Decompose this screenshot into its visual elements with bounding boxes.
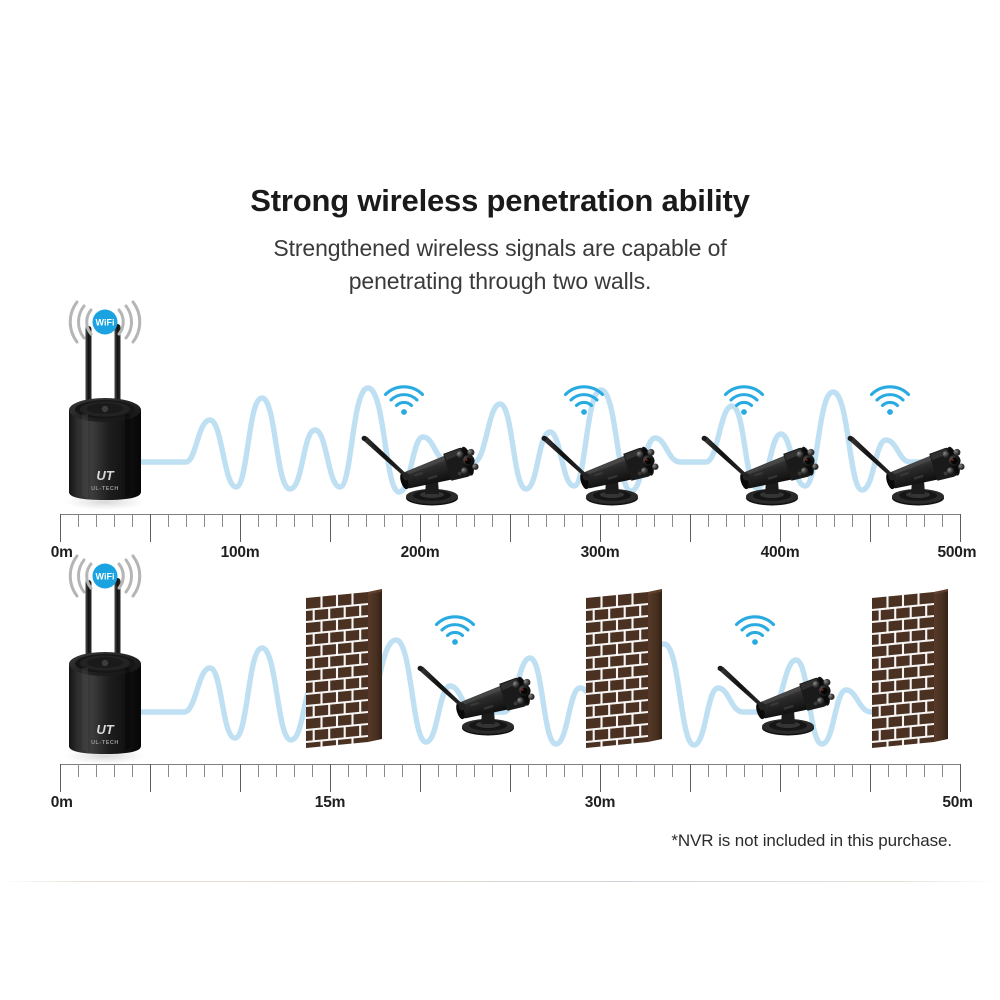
ruler-tick-minor [906, 764, 907, 777]
camera-row1-1 [361, 387, 481, 507]
ruler-label: 15m [315, 794, 345, 812]
ruler-tick-minor [456, 514, 457, 527]
ruler-tick-minor [276, 514, 277, 527]
ruler-tick-major [780, 764, 781, 792]
ruler-tick-minor [78, 764, 79, 777]
ruler-tick-minor [132, 514, 133, 527]
infographic-canvas: Strong wireless penetration ability Stre… [0, 0, 1000, 1000]
ruler-tick-minor [672, 764, 673, 777]
ruler-label: 50m [942, 794, 972, 812]
ruler-tick-minor [798, 514, 799, 527]
ruler-tick-minor [384, 514, 385, 527]
ruler-label: 200m [401, 544, 440, 562]
ruler-tick-minor [294, 514, 295, 527]
ruler-tick-minor [258, 764, 259, 777]
ruler-tick-minor [618, 514, 619, 527]
ruler-tick-major [690, 514, 691, 542]
ruler-tick-minor [672, 514, 673, 527]
wifi-badge-text-row2: WiFi [96, 572, 115, 582]
ruler-tick-minor [816, 764, 817, 777]
ruler-tick-minor [888, 514, 889, 527]
ruler-tick-major [600, 764, 601, 792]
ruler-tick-minor [114, 764, 115, 777]
ruler-tick-minor [492, 764, 493, 777]
ruler-tick-minor [528, 514, 529, 527]
ruler-tick-minor [546, 514, 547, 527]
ruler-tick-minor [852, 764, 853, 777]
ruler-tick-minor [312, 514, 313, 527]
nvr-device-row2 [61, 578, 149, 765]
ruler-tick-minor [402, 764, 403, 777]
ruler-tick-minor [852, 514, 853, 527]
ruler-tick-minor [132, 764, 133, 777]
ruler-tick-minor [114, 514, 115, 527]
ruler-tick-minor [654, 514, 655, 527]
ruler-tick-major [60, 764, 61, 792]
ruler-tick-minor [78, 514, 79, 527]
ruler-tick-major [780, 514, 781, 542]
nvr-logo-row2: UT UL-TECH [91, 722, 119, 746]
ruler-tick-minor [834, 764, 835, 777]
ruler-tick-major [150, 764, 151, 792]
ruler-tick-minor [744, 514, 745, 527]
ruler-tick-minor [582, 514, 583, 527]
brick-wall-2 [586, 589, 662, 748]
ruler-tick-minor [708, 514, 709, 527]
ruler-label: 30m [585, 794, 615, 812]
ruler-tick-minor [546, 764, 547, 777]
ruler-tick-minor [582, 764, 583, 777]
ruler-tick-minor [168, 514, 169, 527]
brick-wall-1 [306, 589, 382, 748]
subtitle-line-2: penetrating through two walls. [0, 268, 1000, 295]
brick-wall-3 [872, 589, 948, 748]
ruler-label: 0m [51, 794, 73, 812]
ruler-tick-minor [276, 764, 277, 777]
ruler-tick-minor [258, 514, 259, 527]
ruler-tick-minor [762, 514, 763, 527]
ruler-tick-minor [924, 514, 925, 527]
nvr-logo-row1: UT UL-TECH [91, 468, 119, 492]
ruler-label: 100m [221, 544, 260, 562]
ruler-tick-minor [798, 764, 799, 777]
ruler-tick-minor [204, 764, 205, 777]
ruler-tick-major [690, 764, 691, 792]
ruler-tick-major [240, 514, 241, 542]
camera-row1-4 [847, 387, 967, 507]
ruler-tick-minor [636, 764, 637, 777]
ruler-tick-minor [204, 514, 205, 527]
bottom-divider [0, 881, 1000, 882]
page-title: Strong wireless penetration ability [0, 183, 1000, 219]
ruler-tick-minor [726, 514, 727, 527]
ruler-tick-minor [474, 514, 475, 527]
svg-text:UL-TECH: UL-TECH [91, 486, 119, 492]
ruler-tick-minor [96, 514, 97, 527]
ruler-tick-minor [474, 764, 475, 777]
row1-signal-wave [140, 388, 938, 492]
wifi-badge-row2: WiFi [70, 556, 140, 596]
ruler-tick-minor [564, 514, 565, 527]
camera-row2-2 [717, 617, 837, 737]
svg-text:UL-TECH: UL-TECH [91, 740, 119, 746]
ruler-tick-major [960, 514, 961, 542]
wifi-badge-row1: WiFi [70, 302, 140, 342]
ruler-tick-minor [888, 764, 889, 777]
ruler-tick-minor [492, 514, 493, 527]
ruler-label: 500m [937, 544, 976, 562]
footnote-text: *NVR is not included in this purchase. [671, 831, 952, 851]
ruler-tick-minor [708, 764, 709, 777]
nvr-device-row1 [61, 324, 149, 511]
ruler-tick-major [150, 514, 151, 542]
ruler-tick-minor [636, 514, 637, 527]
svg-text:UT: UT [96, 722, 114, 737]
ruler-tick-minor [384, 764, 385, 777]
ruler-tick-minor [528, 764, 529, 777]
row2-signal-wave [140, 640, 898, 745]
camera-row2-1 [417, 617, 537, 737]
ruler-tick-major [240, 764, 241, 792]
ruler-tick-major [420, 514, 421, 542]
ruler-tick-major [510, 764, 511, 792]
ruler-row1: 0m100m200m300m400m500m [60, 514, 960, 560]
ruler-tick-major [510, 514, 511, 542]
ruler-tick-minor [744, 764, 745, 777]
svg-text:UT: UT [96, 468, 114, 483]
ruler-tick-minor [222, 514, 223, 527]
ruler-tick-minor [186, 764, 187, 777]
ruler-label: 0m [51, 544, 73, 562]
ruler-tick-minor [438, 764, 439, 777]
ruler-tick-minor [168, 764, 169, 777]
wifi-badge-text-row1: WiFi [96, 318, 115, 328]
ruler-tick-major [870, 764, 871, 792]
ruler-tick-major [330, 764, 331, 792]
ruler-label: 300m [581, 544, 620, 562]
ruler-tick-minor [762, 764, 763, 777]
ruler-tick-minor [726, 764, 727, 777]
ruler-tick-minor [924, 764, 925, 777]
ruler-tick-minor [366, 764, 367, 777]
ruler-tick-major [600, 514, 601, 542]
ruler-tick-minor [942, 764, 943, 777]
ruler-tick-minor [294, 764, 295, 777]
ruler-tick-minor [564, 764, 565, 777]
ruler-tick-minor [348, 514, 349, 527]
ruler-row2: 0m15m30m50m [60, 764, 960, 810]
subtitle-line-1: Strengthened wireless signals are capabl… [0, 235, 1000, 262]
camera-row1-3 [701, 387, 821, 507]
ruler-tick-minor [834, 514, 835, 527]
ruler-tick-minor [222, 764, 223, 777]
ruler-tick-major [420, 764, 421, 792]
ruler-tick-major [870, 514, 871, 542]
ruler-tick-major [330, 514, 331, 542]
ruler-tick-minor [402, 514, 403, 527]
ruler-tick-major [960, 764, 961, 792]
ruler-tick-minor [312, 764, 313, 777]
ruler-tick-minor [942, 514, 943, 527]
ruler-tick-minor [816, 514, 817, 527]
ruler-tick-minor [456, 764, 457, 777]
ruler-tick-minor [654, 764, 655, 777]
ruler-tick-major [60, 514, 61, 542]
ruler-tick-minor [618, 764, 619, 777]
camera-row1-2 [541, 387, 661, 507]
ruler-tick-minor [438, 514, 439, 527]
ruler-tick-minor [186, 514, 187, 527]
ruler-tick-minor [348, 764, 349, 777]
ruler-tick-minor [96, 764, 97, 777]
ruler-label: 400m [761, 544, 800, 562]
ruler-tick-minor [366, 514, 367, 527]
ruler-tick-minor [906, 514, 907, 527]
